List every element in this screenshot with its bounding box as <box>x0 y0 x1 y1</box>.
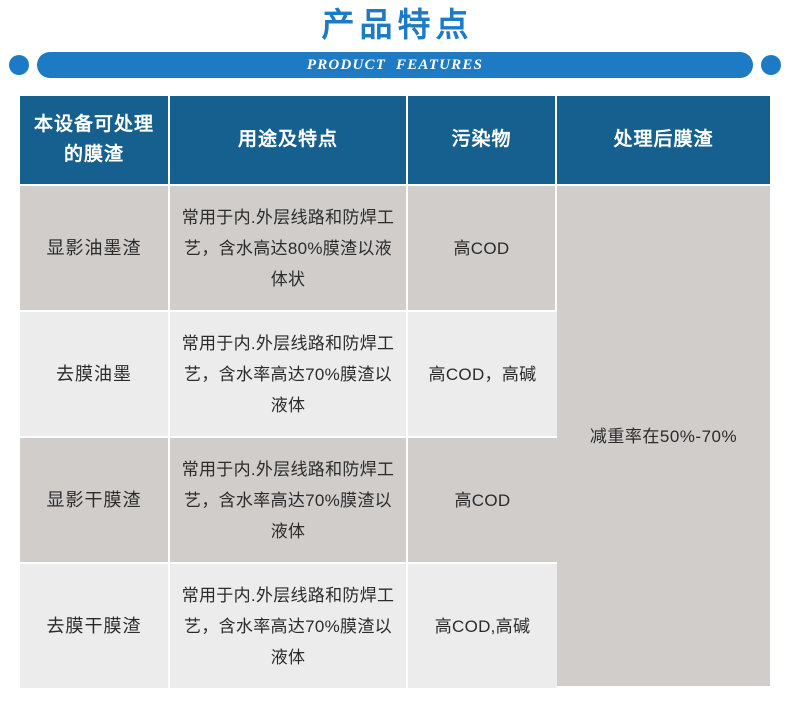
features-table-wrapper: 本设备可处理的膜渣 用途及特点 污染物 处理后膜渣 显影油墨渣 常用于内.外层线… <box>20 96 770 688</box>
cell-waste-type: 显影油墨渣 <box>20 186 170 312</box>
column-header-after-treatment: 处理后膜渣 <box>557 96 770 186</box>
cell-usage-features: 常用于内.外层线路和防焊工艺，含水率高达70%膜渣以液体 <box>170 312 408 438</box>
subtitle-banner: PRODUCT FEATURES <box>0 52 790 78</box>
features-table: 本设备可处理的膜渣 用途及特点 污染物 处理后膜渣 显影油墨渣 常用于内.外层线… <box>20 96 770 688</box>
page-title: 产品特点 <box>0 4 790 46</box>
column-header-pollutant: 污染物 <box>408 96 557 186</box>
cell-after-treatment-merged: 减重率在50%-70% <box>557 186 770 688</box>
cell-pollutant: 高COD <box>408 186 557 312</box>
cell-pollutant: 高COD，高碱 <box>408 312 557 438</box>
table-head: 本设备可处理的膜渣 用途及特点 污染物 处理后膜渣 <box>20 96 770 186</box>
cell-waste-type: 去膜干膜渣 <box>20 564 170 688</box>
page-header: 产品特点 PRODUCT FEATURES <box>0 0 790 92</box>
banner-right-dot-icon <box>761 55 781 75</box>
banner-left-dot-icon <box>9 55 29 75</box>
cell-usage-features: 常用于内.外层线路和防焊工艺，含水率高达70%膜渣以液体 <box>170 438 408 564</box>
column-header-usage-features: 用途及特点 <box>170 96 408 186</box>
cell-waste-type: 去膜油墨 <box>20 312 170 438</box>
column-header-waste-type: 本设备可处理的膜渣 <box>20 96 170 186</box>
cell-pollutant: 高COD <box>408 438 557 564</box>
cell-waste-type: 显影干膜渣 <box>20 438 170 564</box>
page-subtitle: PRODUCT FEATURES <box>37 52 753 78</box>
banner-bar: PRODUCT FEATURES <box>37 52 753 78</box>
table-body: 显影油墨渣 常用于内.外层线路和防焊工艺，含水高达80%膜渣以液体状 高COD … <box>20 186 770 688</box>
cell-usage-features: 常用于内.外层线路和防焊工艺，含水率高达70%膜渣以液体 <box>170 564 408 688</box>
table-row: 显影油墨渣 常用于内.外层线路和防焊工艺，含水高达80%膜渣以液体状 高COD … <box>20 186 770 312</box>
cell-usage-features: 常用于内.外层线路和防焊工艺，含水高达80%膜渣以液体状 <box>170 186 408 312</box>
table-header-row: 本设备可处理的膜渣 用途及特点 污染物 处理后膜渣 <box>20 96 770 186</box>
cell-pollutant: 高COD,高碱 <box>408 564 557 688</box>
